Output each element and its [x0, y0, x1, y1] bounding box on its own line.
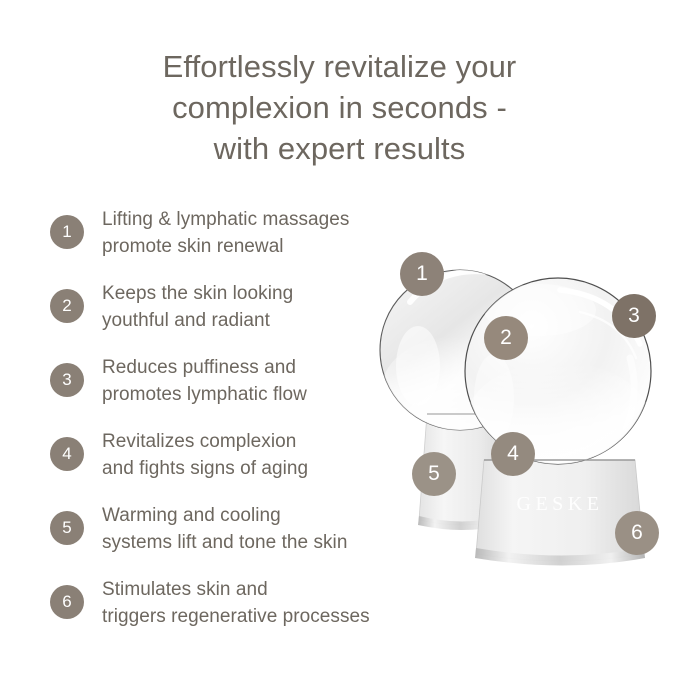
page-title: Effortlessly revitalize your complexion …: [0, 46, 679, 169]
product-callout-4: 4: [491, 432, 535, 476]
benefit-text: Reduces puffiness and promotes lymphatic…: [102, 354, 307, 408]
benefit-number-badge: 6: [50, 585, 84, 619]
list-item: 4 Revitalizes complexion and fights sign…: [50, 424, 420, 498]
product-callout-2: 2: [484, 316, 528, 360]
benefit-number-badge: 5: [50, 511, 84, 545]
product-callout-5: 5: [412, 452, 456, 496]
product-infographic: Effortlessly revitalize your complexion …: [0, 0, 679, 679]
benefit-list: 1 Lifting & lymphatic massages promote s…: [50, 202, 420, 646]
list-item: 3 Reduces puffiness and promotes lymphat…: [50, 350, 420, 424]
brand-wordmark: GESKE: [517, 493, 604, 515]
benefit-text: Warming and cooling systems lift and ton…: [102, 502, 347, 556]
product-callout-3: 3: [612, 294, 656, 338]
benefit-text: Lifting & lymphatic massages promote ski…: [102, 206, 349, 260]
benefit-text: Stimulates skin and triggers regenerativ…: [102, 576, 370, 630]
product-image: GESKE: [372, 238, 672, 568]
list-item: 5 Warming and cooling systems lift and t…: [50, 498, 420, 572]
product-callout-1: 1: [400, 252, 444, 296]
benefit-text: Revitalizes complexion and fights signs …: [102, 428, 308, 482]
benefit-number-badge: 2: [50, 289, 84, 323]
list-item: 2 Keeps the skin looking youthful and ra…: [50, 276, 420, 350]
benefit-number-badge: 1: [50, 215, 84, 249]
benefit-text: Keeps the skin looking youthful and radi…: [102, 280, 293, 334]
list-item: 1 Lifting & lymphatic massages promote s…: [50, 202, 420, 276]
benefit-number-badge: 4: [50, 437, 84, 471]
benefit-number-badge: 3: [50, 363, 84, 397]
list-item: 6 Stimulates skin and triggers regenerat…: [50, 572, 420, 646]
product-callout-6: 6: [615, 511, 659, 555]
